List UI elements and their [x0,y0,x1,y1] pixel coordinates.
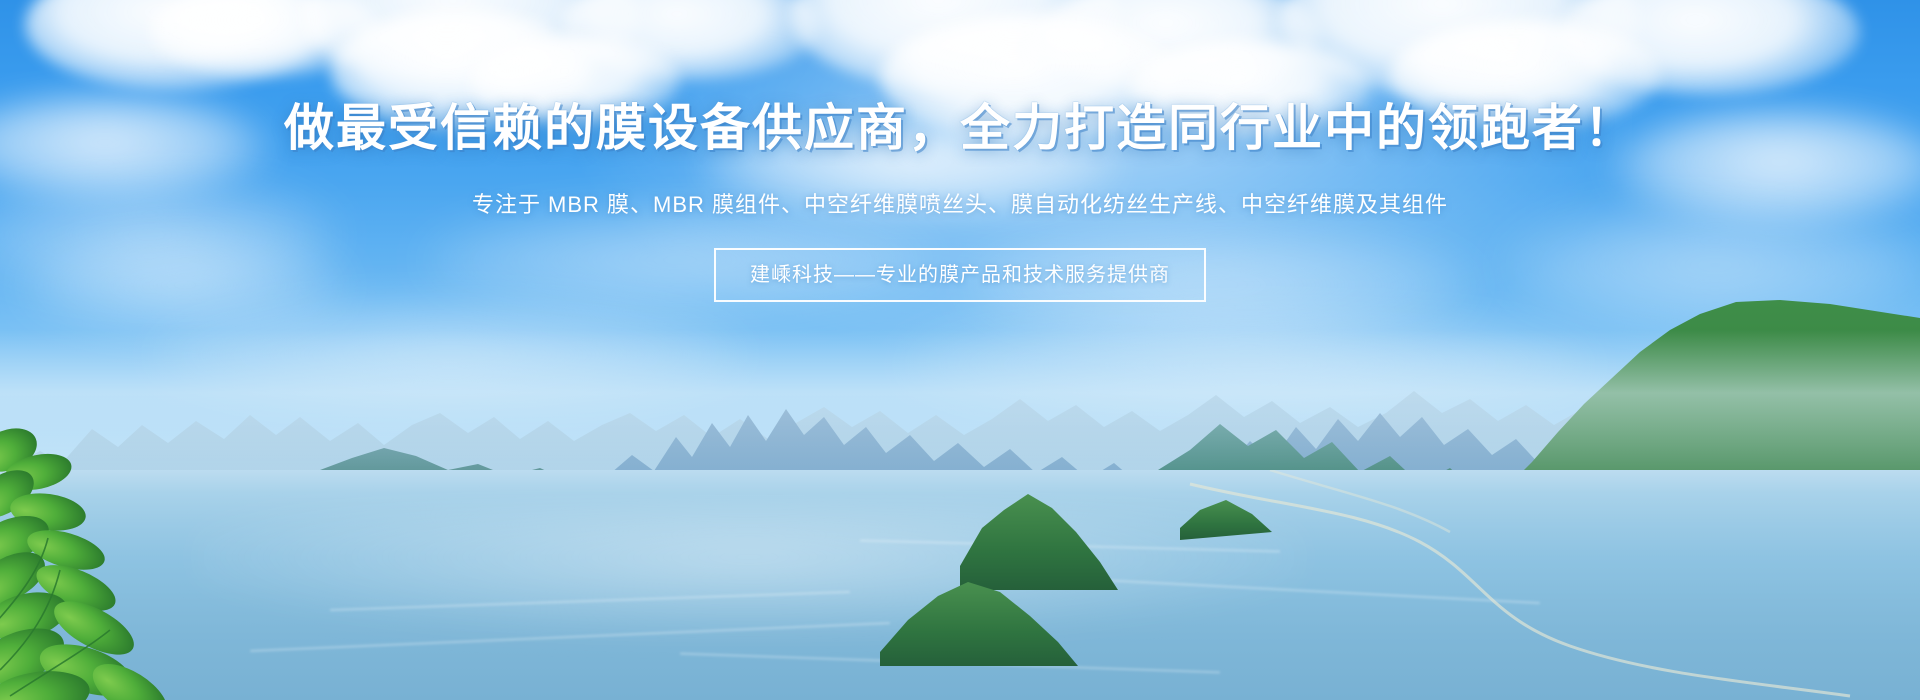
banner-tagline-wrapper: 建嵊科技——专业的膜产品和技术服务提供商 [0,220,1920,302]
hero-banner: 做最受信赖的膜设备供应商，全力打造同行业中的领跑者！ 专注于 MBR 膜、MBR… [0,0,1920,700]
banner-headline: 做最受信赖的膜设备供应商，全力打造同行业中的领跑者！ [0,0,1920,158]
banner-copy: 做最受信赖的膜设备供应商，全力打造同行业中的领跑者！ 专注于 MBR 膜、MBR… [0,0,1920,302]
hillside-road [1150,470,1920,700]
banner-tagline-box: 建嵊科技——专业的膜产品和技术服务提供商 [714,248,1206,302]
banner-subheadline: 专注于 MBR 膜、MBR 膜组件、中空纤维膜喷丝头、膜自动化纺丝生产线、中空纤… [0,158,1920,220]
